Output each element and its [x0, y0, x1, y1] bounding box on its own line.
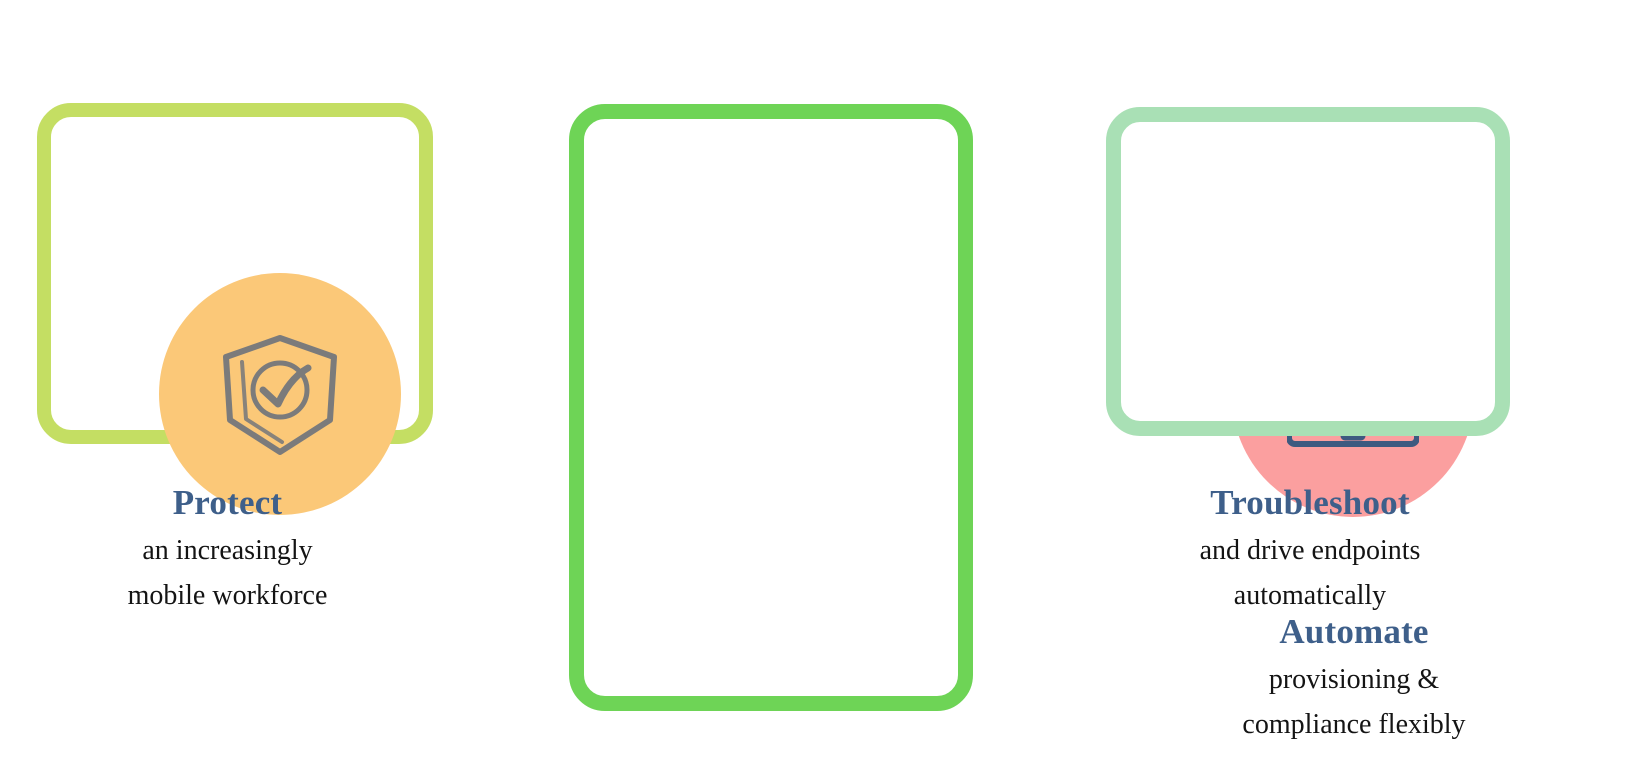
card-subline-automate-2: compliance flexibly	[1149, 702, 1559, 747]
card-subline-protect-1: an increasingly	[25, 528, 430, 573]
shield-check-icon	[210, 324, 350, 464]
card-subline-troubleshoot-1: and drive endpoints	[1105, 528, 1515, 573]
feature-card-automate[interactable]: Automate provisioning & compliance flexi…	[569, 104, 973, 711]
card-heading-troubleshoot: Troubleshoot	[1105, 482, 1515, 524]
feature-text-protect: Protect an increasingly mobile workforce	[25, 482, 430, 618]
feature-card-troubleshoot[interactable]	[1106, 107, 1510, 436]
card-subline-automate-1: provisioning &	[1149, 657, 1559, 702]
feature-text-troubleshoot: Troubleshoot and drive endpoints automat…	[1105, 482, 1515, 618]
card-subline-protect-2: mobile workforce	[25, 573, 430, 618]
card-heading-protect: Protect	[25, 482, 430, 524]
feature-text-automate: Automate provisioning & compliance flexi…	[1149, 611, 1559, 747]
feature-cards-stage: Protect an increasingly mobile workforce	[0, 0, 1625, 778]
feature-card-protect[interactable]	[37, 103, 433, 444]
card-subline-troubleshoot-2: automatically	[1105, 573, 1515, 618]
icon-badge-protect	[159, 273, 401, 515]
